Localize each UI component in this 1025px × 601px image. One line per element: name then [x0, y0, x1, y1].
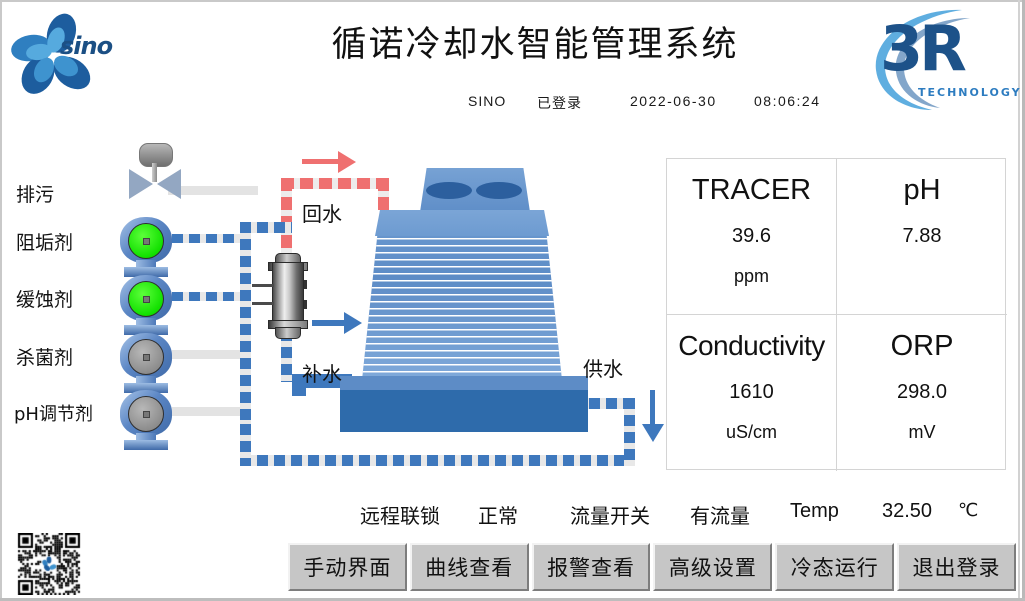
pump-ph-adjust[interactable]	[118, 390, 174, 452]
fan-blade-left	[426, 182, 472, 199]
page-title: 循诺冷却水智能管理系统	[255, 16, 815, 67]
dosing-line-ph-adjust	[172, 407, 250, 416]
sino-wordmark: sino	[60, 32, 112, 60]
toolbar: 手动界面 曲线查看 报警查看 高级设置 冷态运行 退出登录	[288, 543, 1016, 591]
reading-conductivity[interactable]: Conductivity 1610 uS/cm	[667, 315, 837, 471]
reading-orp-unit: mV	[909, 422, 936, 443]
supply-pipe-vertical	[624, 398, 635, 466]
label-makeup-water: 补水	[302, 358, 342, 387]
device-label-inhibitor: 缓蚀剂	[16, 285, 128, 312]
sino-logo: sino	[8, 8, 138, 100]
interlock-label: 远程联锁	[360, 500, 440, 529]
measurement-panel: TRACER 39.6 ppm pH 7.88 Conductivity 161…	[666, 158, 1006, 470]
pump-antiscalant[interactable]	[118, 217, 174, 279]
loop-pipe-left-lower	[240, 424, 251, 466]
cooling-tower-graphic	[340, 168, 585, 428]
reading-ph-value: 7.88	[903, 225, 942, 248]
app-window: sino 循诺冷却水智能管理系统 SINO 已登录 2022-06-30 08:…	[0, 0, 1025, 601]
blowdown-valve-icon[interactable]	[117, 143, 193, 205]
flow-switch-value: 有流量	[690, 500, 750, 529]
return-flow-arrow-shaft	[302, 159, 340, 164]
dosing-line-biocide	[172, 350, 250, 359]
temperature-unit: ℃	[958, 500, 978, 521]
dosing-line-inhibitor	[172, 292, 250, 301]
reading-ph[interactable]: pH 7.88	[837, 159, 1007, 315]
dosing-line-antiscalant	[172, 234, 250, 243]
tower-basin	[340, 390, 588, 432]
pump-biocide[interactable]	[118, 333, 174, 395]
window-border-top	[0, 0, 1025, 2]
supply-flow-arrow-shaft	[650, 390, 655, 428]
pump-inhibitor[interactable]	[118, 275, 174, 337]
label-return-water: 回水	[302, 198, 342, 227]
reading-ph-title: pH	[903, 173, 940, 207]
status-time: 08:06:24	[754, 93, 821, 109]
temperature-label: Temp	[790, 500, 839, 523]
reading-orp[interactable]: ORP 298.0 mV	[837, 315, 1007, 471]
reading-tracer-value: 39.6	[732, 225, 771, 248]
tower-top-section	[362, 210, 562, 236]
reading-tracer-unit: ppm	[734, 266, 769, 287]
device-label-biocide: 杀菌剂	[16, 343, 128, 370]
interlock-value: 正常	[478, 500, 518, 529]
temperature-value: 32.50	[882, 500, 932, 523]
button-view-trends[interactable]: 曲线查看	[410, 543, 529, 591]
button-view-alarms[interactable]: 报警查看	[532, 543, 651, 591]
button-manual-screen[interactable]: 手动界面	[288, 543, 407, 591]
loop-pipe-left	[240, 222, 251, 432]
label-supply-water: 供水	[583, 353, 623, 382]
qr-code[interactable]	[6, 533, 92, 595]
reading-conductivity-unit: uS/cm	[726, 422, 777, 443]
button-logout[interactable]: 退出登录	[897, 543, 1016, 591]
button-advanced-settings[interactable]: 高级设置	[653, 543, 772, 591]
supply-flow-arrow-head	[642, 424, 664, 442]
reading-tracer-title: TRACER	[692, 173, 811, 207]
3r-tagline: TECHNOLOGY	[918, 86, 1022, 99]
loop-pipe-bottom	[240, 455, 635, 466]
status-date: 2022-06-30	[630, 93, 717, 109]
button-cold-start[interactable]: 冷态运行	[775, 543, 894, 591]
device-label-antiscalant: 阻垢剂	[16, 228, 128, 255]
reading-conductivity-value: 1610	[729, 381, 774, 404]
reading-conductivity-title: Conductivity	[678, 329, 825, 363]
device-label-blowdown: 排污	[16, 180, 128, 207]
qr-code-canvas	[6, 533, 92, 595]
fan-blade-right	[476, 182, 522, 199]
status-login-state: 已登录	[537, 93, 582, 113]
3r-technology-logo: 3R TECHNOLOGY	[866, 4, 1016, 116]
reading-orp-value: 298.0	[897, 381, 947, 404]
flow-switch-label: 流量开关	[570, 500, 650, 529]
window-border-left	[0, 0, 2, 601]
3r-wordmark: 3R	[880, 18, 1020, 80]
reading-orp-title: ORP	[891, 329, 954, 363]
fan-housing	[420, 168, 530, 212]
water-analyzer-unit[interactable]	[263, 250, 313, 340]
loop-pipe-top	[240, 222, 292, 233]
device-label-ph-adjust: pH调节剂	[14, 400, 126, 426]
status-user: SINO	[468, 93, 506, 109]
reading-tracer[interactable]: TRACER 39.6 ppm	[667, 159, 837, 315]
